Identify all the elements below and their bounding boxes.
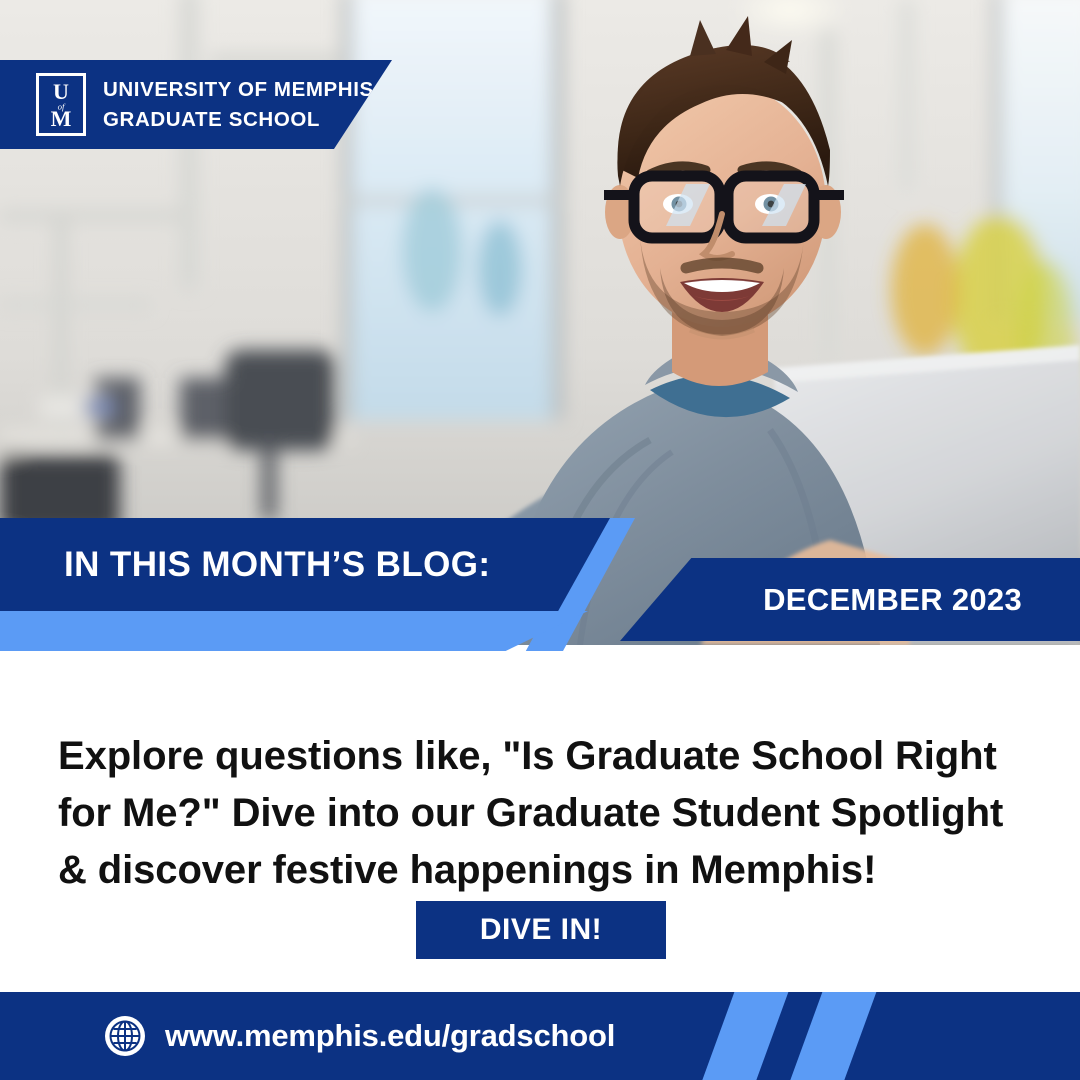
brand-line-graduate-school: GRADUATE SCHOOL [103, 105, 374, 134]
brand-wordmark: UNIVERSITY OF MEMPHIS GRADUATE SCHOOL [103, 75, 374, 133]
social-media-poster: U of M UNIVERSITY OF MEMPHIS GRADUATE SC… [0, 0, 1080, 1080]
date-band: DECEMBER 2023 [620, 558, 1080, 641]
issue-date-text: DECEMBER 2023 [763, 582, 1022, 618]
blog-label-text: IN THIS MONTH’S BLOG: [64, 518, 490, 611]
um-monogram-glyph: U of M [39, 76, 83, 133]
dive-in-button[interactable]: DIVE IN! [416, 901, 666, 959]
footer-accent-stripe-1 [698, 992, 792, 1080]
svg-text:U: U [53, 79, 69, 104]
body-copy-text: Explore questions like, "Is Graduate Sch… [58, 728, 1018, 898]
footer-website-group[interactable]: www.memphis.edu/gradschool [103, 992, 615, 1080]
globe-glyph [103, 1014, 147, 1058]
university-of-memphis-monogram-icon: U of M [36, 73, 86, 136]
footer-accent-stripe-2 [786, 992, 880, 1080]
brand-header-banner: U of M UNIVERSITY OF MEMPHIS GRADUATE SC… [0, 60, 392, 149]
accent-blue-band [0, 611, 588, 651]
globe-icon [103, 1014, 147, 1058]
brand-line-university: UNIVERSITY OF MEMPHIS [103, 75, 374, 104]
blog-banner-group: IN THIS MONTH’S BLOG: DECEMBER 2023 [0, 505, 1080, 665]
footer-bar: www.memphis.edu/gradschool [0, 992, 1080, 1080]
svg-text:M: M [51, 106, 72, 131]
website-url-text[interactable]: www.memphis.edu/gradschool [165, 1018, 615, 1054]
